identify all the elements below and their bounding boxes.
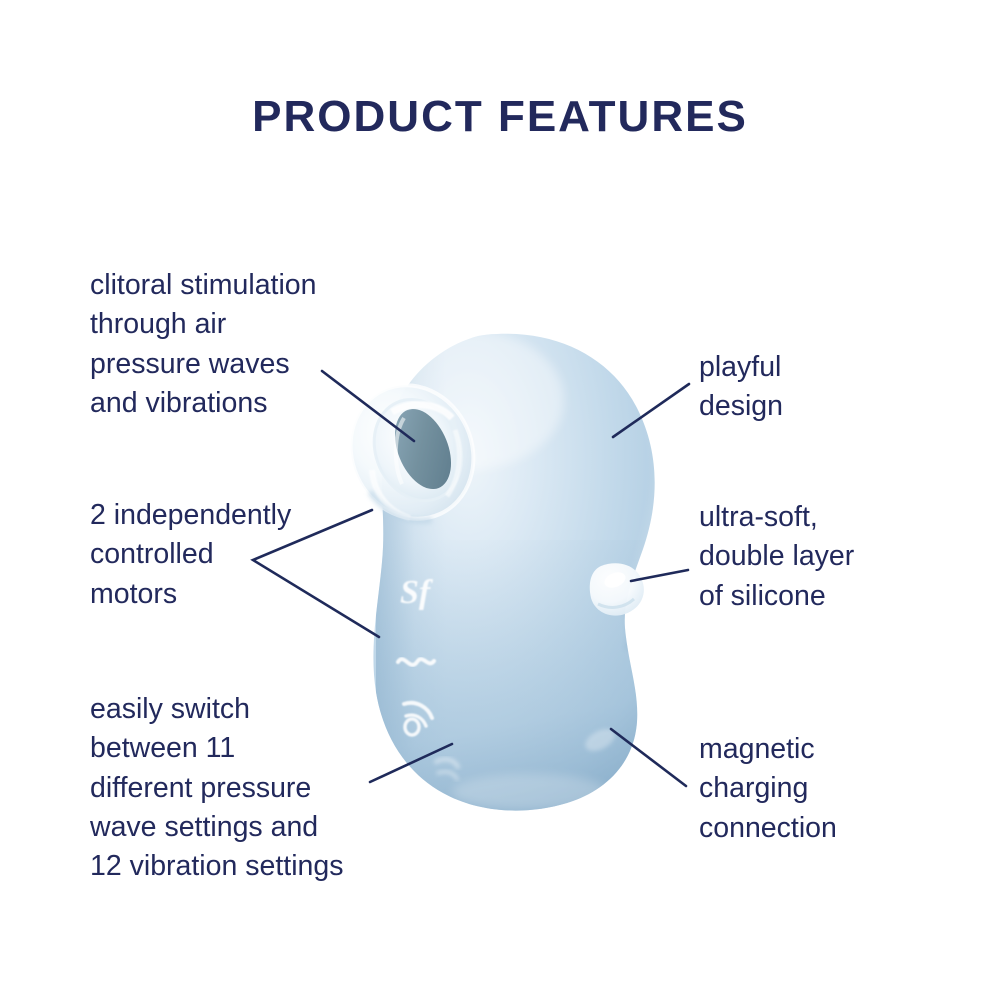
product-features-infographic: PRODUCT FEATURES	[0, 0, 1000, 1000]
connector-playful-design	[613, 384, 689, 437]
connector-lines	[0, 0, 1000, 1000]
connector-double-layer-silicone	[631, 570, 688, 581]
connector-clitoral-stimulation	[322, 371, 414, 441]
connector-magnetic-charging	[611, 729, 686, 786]
connector-pressure-wave-settings	[370, 744, 452, 782]
connector-independent-motors	[253, 510, 379, 637]
